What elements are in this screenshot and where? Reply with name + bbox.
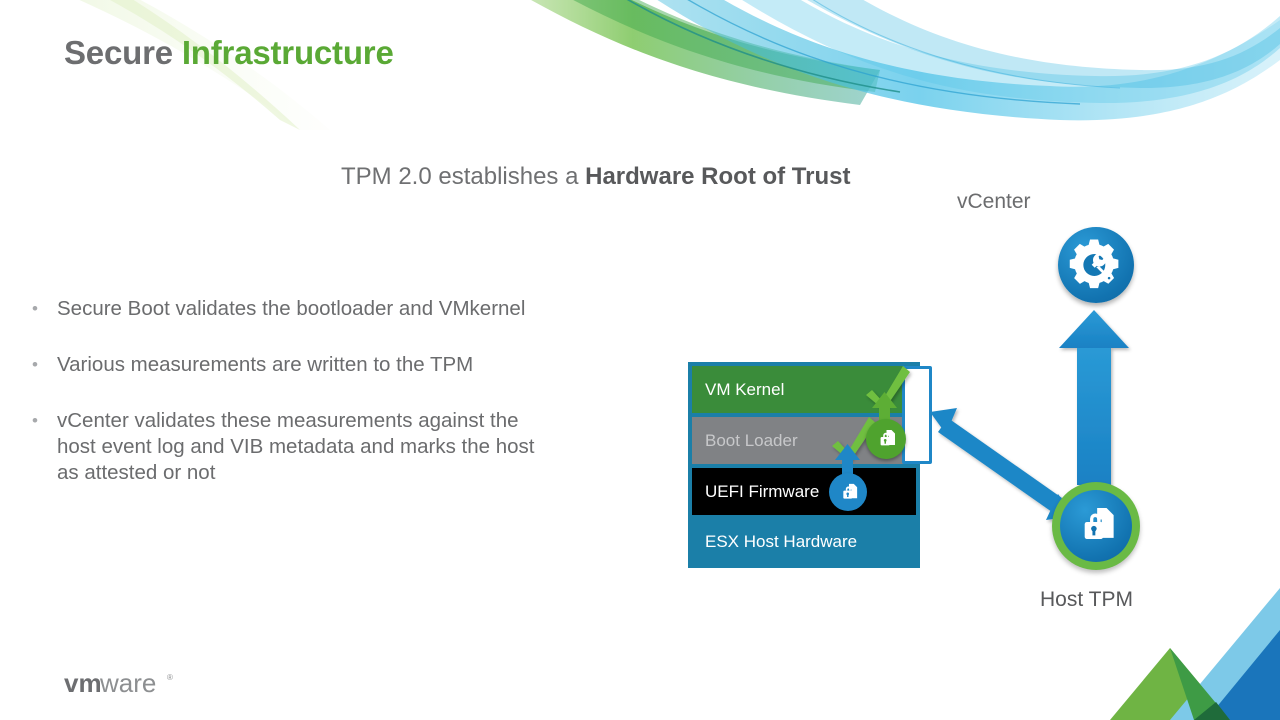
- tpm-to-vcenter-arrow: [1059, 310, 1129, 485]
- logo-bold-part: vm: [64, 670, 102, 698]
- subtitle-lead: TPM 2.0 establishes a: [341, 163, 585, 190]
- lock-document-icon: [874, 427, 898, 451]
- logo-trademark: ®: [167, 673, 173, 682]
- measurement-bracket: [902, 366, 932, 464]
- bullet-text: Various measurements are written to the …: [57, 352, 473, 378]
- list-item: • Secure Boot validates the bootloader a…: [30, 296, 630, 322]
- corner-triangle-decoration: [1110, 570, 1280, 720]
- host-tpm-label: Host TPM: [1040, 588, 1133, 612]
- bullet-list: • Secure Boot validates the bootloader a…: [30, 296, 630, 516]
- lock-document-icon: [837, 481, 860, 504]
- vcenter-label: vCenter: [957, 190, 1031, 214]
- list-item: • vCenter validates these measurements a…: [30, 408, 560, 486]
- vcenter-gear-wrench-icon-circle: [1058, 227, 1134, 303]
- logo-light-part: ware: [99, 670, 156, 698]
- stack-layer-esx-host-hardware: ESX Host Hardware: [692, 519, 916, 564]
- title-part-secure: Secure: [64, 34, 182, 71]
- bracket-to-tpm-arrow: [930, 408, 1075, 520]
- bullet-text: Secure Boot validates the bootloader and…: [57, 296, 525, 322]
- gear-wrench-icon: [1069, 238, 1123, 292]
- title-part-infrastructure: Infrastructure: [182, 34, 394, 71]
- stack-layer-uefi-firmware: UEFI Firmware: [692, 468, 916, 515]
- lock-document-icon-blue-badge: [829, 473, 867, 511]
- lock-document-icon-green-badge: [866, 419, 906, 459]
- host-tpm-icon-circle: [1052, 482, 1140, 570]
- bullet-marker: •: [30, 352, 57, 378]
- lock-document-icon: [1073, 503, 1119, 549]
- bullet-marker: •: [30, 408, 57, 486]
- esx-boot-stack: VM Kernel Boot Loader UEFI Firmware ESX …: [688, 362, 920, 568]
- subtitle: TPM 2.0 establishes a Hardware Root of T…: [341, 163, 850, 191]
- bullet-marker: •: [30, 296, 57, 322]
- host-tpm-icon-inner: [1060, 490, 1132, 562]
- page-title: Secure Infrastructure: [64, 34, 394, 72]
- list-item: • Various measurements are written to th…: [30, 352, 630, 378]
- slide-canvas: Secure Infrastructure TPM 2.0 establishe…: [0, 0, 1280, 720]
- stack-layer-vm-kernel: VM Kernel: [692, 366, 916, 413]
- bullet-text: vCenter validates these measurements aga…: [57, 408, 560, 486]
- subtitle-emphasis: Hardware Root of Trust: [585, 163, 850, 190]
- vmware-logo: vm ware ®: [64, 670, 192, 700]
